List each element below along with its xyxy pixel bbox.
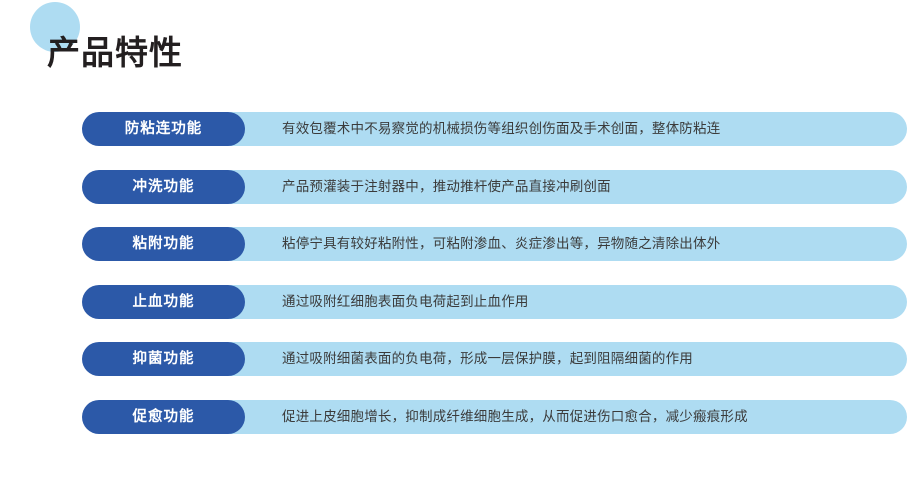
feature-label-pill[interactable]: 粘附功能 bbox=[82, 227, 245, 261]
feature-description: 粘停宁具有较好粘附性，可粘附渗血、炎症渗出等，异物随之清除出体外 bbox=[282, 227, 720, 261]
feature-row: 冲洗功能 产品预灌装于注射器中，推动推杆使产品直接冲刷创面 bbox=[0, 170, 920, 204]
feature-description: 促进上皮细胞增长，抑制成纤维细胞生成，从而促进伤口愈合，减少瘢痕形成 bbox=[282, 400, 748, 434]
feature-label-pill[interactable]: 止血功能 bbox=[82, 285, 245, 319]
feature-row: 止血功能 通过吸附红细胞表面负电荷起到止血作用 bbox=[0, 285, 920, 319]
feature-row: 防粘连功能 有效包覆术中不易察觉的机械损伤等组织创伤面及手术创面，整体防粘连 bbox=[0, 112, 920, 146]
feature-label: 抑菌功能 bbox=[133, 342, 195, 376]
feature-description: 通过吸附红细胞表面负电荷起到止血作用 bbox=[282, 285, 529, 319]
feature-description: 产品预灌装于注射器中，推动推杆使产品直接冲刷创面 bbox=[282, 170, 611, 204]
feature-label: 防粘连功能 bbox=[125, 112, 203, 146]
feature-label: 促愈功能 bbox=[133, 400, 195, 434]
feature-list: 防粘连功能 有效包覆术中不易察觉的机械损伤等组织创伤面及手术创面，整体防粘连 冲… bbox=[0, 112, 920, 457]
slide-canvas: 产品特性 防粘连功能 有效包覆术中不易察觉的机械损伤等组织创伤面及手术创面，整体… bbox=[0, 0, 920, 493]
feature-label-pill[interactable]: 抑菌功能 bbox=[82, 342, 245, 376]
feature-row: 粘附功能 粘停宁具有较好粘附性，可粘附渗血、炎症渗出等，异物随之清除出体外 bbox=[0, 227, 920, 261]
feature-label-pill[interactable]: 促愈功能 bbox=[82, 400, 245, 434]
page-title: 产品特性 bbox=[47, 32, 183, 74]
feature-description: 有效包覆术中不易察觉的机械损伤等组织创伤面及手术创面，整体防粘连 bbox=[282, 112, 720, 146]
feature-label: 止血功能 bbox=[133, 285, 195, 319]
slide-title-area: 产品特性 bbox=[0, 0, 920, 95]
feature-label: 冲洗功能 bbox=[133, 170, 195, 204]
feature-row: 抑菌功能 通过吸附细菌表面的负电荷，形成一层保护膜，起到阻隔细菌的作用 bbox=[0, 342, 920, 376]
feature-row: 促愈功能 促进上皮细胞增长，抑制成纤维细胞生成，从而促进伤口愈合，减少瘢痕形成 bbox=[0, 400, 920, 434]
feature-label-pill[interactable]: 冲洗功能 bbox=[82, 170, 245, 204]
feature-label: 粘附功能 bbox=[133, 227, 195, 261]
feature-label-pill[interactable]: 防粘连功能 bbox=[82, 112, 245, 146]
feature-description: 通过吸附细菌表面的负电荷，形成一层保护膜，起到阻隔细菌的作用 bbox=[282, 342, 693, 376]
